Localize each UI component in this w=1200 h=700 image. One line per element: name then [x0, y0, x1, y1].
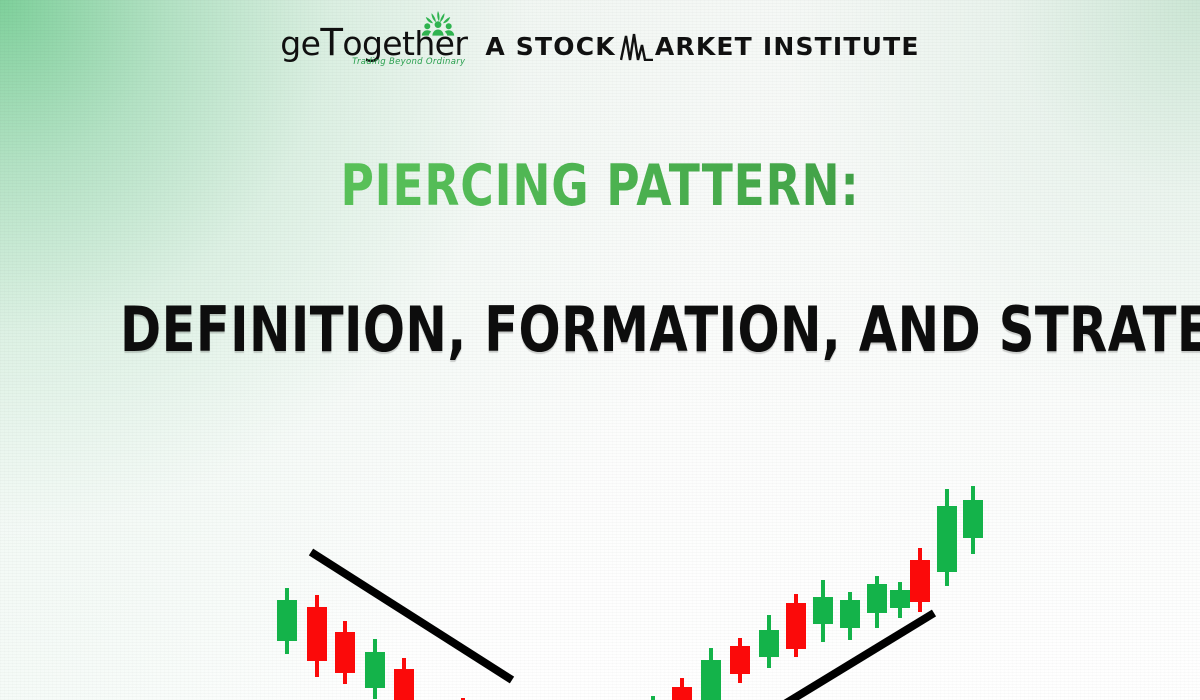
candle-body — [963, 500, 983, 538]
candle-body — [672, 687, 692, 700]
candle — [394, 658, 414, 700]
heartbeat-pulse-icon: M — [620, 33, 654, 61]
candle-body — [365, 652, 385, 688]
candle — [937, 489, 957, 586]
candle-body — [840, 600, 860, 628]
candle-wick — [651, 696, 655, 700]
candle — [963, 486, 983, 554]
candle — [759, 615, 779, 668]
brand-name-cap: T — [320, 21, 342, 64]
poster-canvas: geTogether Trading Beyond Ordinary A STO… — [0, 0, 1200, 700]
candle-body — [813, 597, 833, 624]
brand-header: geTogether Trading Beyond Ordinary A STO… — [0, 26, 1200, 67]
candle — [672, 678, 692, 700]
brand-tagline: Trading Beyond Ordinary — [352, 57, 465, 67]
institute-text-post: ARKET INSTITUTE — [655, 32, 920, 61]
candle-body — [277, 600, 297, 641]
candle — [813, 580, 833, 642]
institute-text-pre: A STOCK — [485, 32, 615, 61]
candle — [701, 648, 721, 700]
candle — [730, 638, 750, 683]
candle — [643, 696, 663, 700]
candle — [786, 594, 806, 657]
candle-body — [701, 660, 721, 700]
candle — [867, 576, 887, 628]
candle — [890, 582, 910, 618]
candle-body — [335, 632, 355, 673]
candle-body — [890, 590, 910, 608]
candlestick-chart — [0, 180, 1200, 700]
candle-body — [730, 646, 750, 674]
candle-body — [786, 603, 806, 649]
candle — [277, 588, 297, 654]
brand-name-prefix: ge — [280, 24, 320, 63]
candle-body — [910, 560, 930, 602]
candles-layer — [277, 486, 983, 700]
candle-body — [867, 584, 887, 613]
candle-body — [759, 630, 779, 657]
candle-body — [394, 669, 414, 700]
candle — [910, 548, 930, 612]
brand-logo: geTogether Trading Beyond Ordinary — [280, 26, 467, 67]
candle-body — [937, 506, 957, 572]
people-leaf-icon — [415, 10, 461, 36]
candle-body — [307, 607, 327, 661]
institute-wordmark: A STOCK M ARKET INSTITUTE — [485, 32, 919, 61]
candle — [840, 592, 860, 640]
candle — [365, 639, 385, 699]
candle — [307, 595, 327, 677]
candle — [335, 621, 355, 684]
